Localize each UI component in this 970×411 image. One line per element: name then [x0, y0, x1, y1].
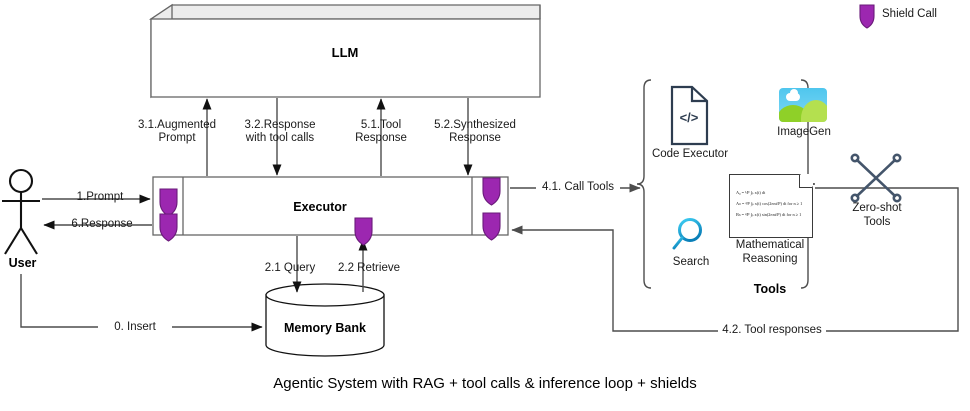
math-line-3: Bₙ = ²⁄P ∫ₚ x(t) sin(2πnt/P) dt for n ≥ … [736, 212, 801, 218]
tools-group-label: Tools [730, 282, 810, 296]
diagram-caption: Agentic System with RAG + tool calls & i… [0, 375, 970, 392]
user-actor[interactable] [2, 170, 40, 254]
edge-label-insert: 0. Insert [98, 321, 172, 334]
memory-bank-node[interactable] [266, 284, 384, 356]
llm-label: LLM [150, 45, 540, 60]
insert-edge [21, 274, 262, 327]
edge-label-tool-response: 5.1.Tool Response [344, 119, 418, 145]
edge-label-query: 2.1 Query [258, 262, 322, 275]
edge-label-augmented-prompt: 3.1.Augmented Prompt [138, 119, 216, 145]
tool-label-zero-shot-tools: Zero-shot Tools [838, 202, 916, 229]
tool-label-search: Search [657, 256, 725, 270]
image-gen-icon [779, 88, 827, 122]
edge-label-response: 6.Response [58, 218, 146, 231]
executor-label: Executor [170, 200, 470, 214]
edge-label-prompt: 1.Prompt [62, 191, 138, 204]
edge-label-response-with-tool-calls: 3.2.Response with tool calls [234, 119, 326, 145]
code-document-icon: </> [672, 87, 707, 144]
edge-label-tool-responses: 4.2. Tool responses [718, 324, 826, 337]
hill-shape-right [801, 100, 827, 122]
math-line-1: A₀ = ¹⁄P ∫ₚ x(t) dt [736, 190, 765, 196]
legend-shield-label: Shield Call [882, 8, 937, 20]
user-label: User [0, 256, 45, 270]
edge-label-retrieve: 2.2 Retrieve [330, 262, 408, 275]
math-line-2: Aₙ = ²⁄P ∫ₚ x(t) cos(2πnt/P) dt for n ≥ … [736, 201, 802, 207]
edge-label-synthesized-response: 5.2.Synthesized Response [428, 119, 522, 145]
formula-document-icon: A₀ = ¹⁄P ∫ₚ x(t) dt Aₙ = ²⁄P ∫ₚ x(t) cos… [729, 174, 813, 238]
tool-label-math-reasoning: Mathematical Reasoning [722, 239, 818, 266]
tool-label-imagegen: ImageGen [763, 126, 845, 140]
magnifier-icon [674, 220, 701, 249]
diagram-canvas: </> [0, 0, 970, 411]
tool-label-code-executor: Code Executor [644, 148, 736, 162]
crossed-wrenches-icon [852, 155, 900, 201]
memory-bank-label: Memory Bank [265, 321, 385, 335]
edge-label-call-tools: 4.1. Call Tools [536, 181, 620, 194]
cloud-shape [786, 93, 800, 101]
svg-text:</>: </> [680, 110, 699, 125]
